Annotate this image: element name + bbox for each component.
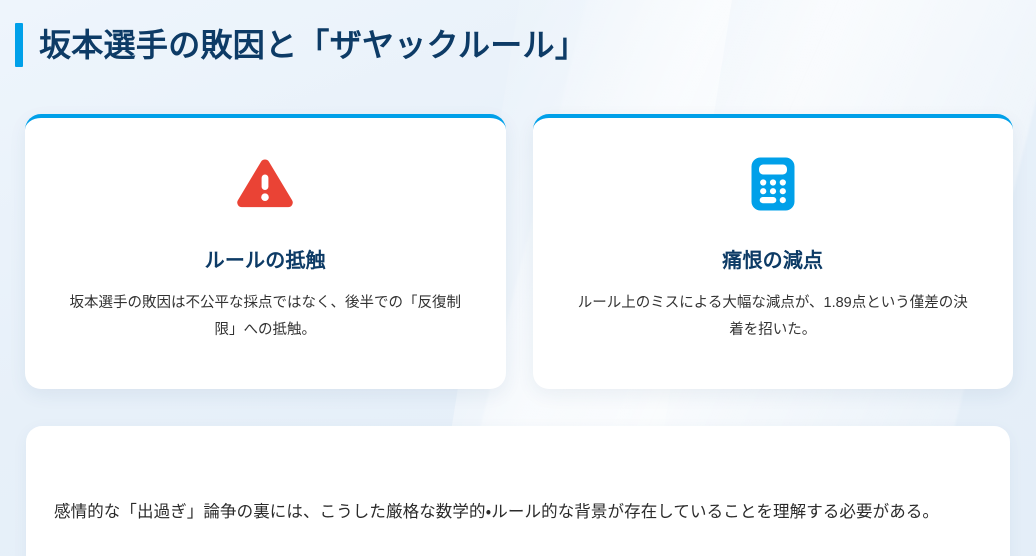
- page-title-text: 坂本選手の敗因と「ザヤックルール」: [39, 26, 587, 64]
- card-rule-violation[interactable]: ルールの抵触 坂本選手の敗因は不公平な採点ではなく、後半での「反復制限」への抵触…: [25, 114, 506, 389]
- warning-triangle-icon: [236, 154, 294, 214]
- card-title: 痛恨の減点: [722, 244, 823, 273]
- slide-root: 坂本選手の敗因と「ザヤックルール」 ルールの抵触 坂本選手の敗因は不公平な採点で…: [0, 0, 1036, 556]
- title-accent-bar: [15, 23, 23, 67]
- card-body-text: 坂本選手の敗因は不公平な採点ではなく、後半での「反復制限」への抵触。: [65, 290, 465, 344]
- card-body-text: ルール上のミスによる大幅な減点が、1.89点という僅差の決着を招いた。: [573, 290, 973, 344]
- page-title: 坂本選手の敗因と「ザヤックルール」: [15, 21, 587, 69]
- summary-panel: 感情的な「出過ぎ」論争の裏には、こうした厳格な数学的・ルール的な背景が存在してい…: [26, 426, 1010, 556]
- calculator-icon: [750, 154, 796, 214]
- card-row: ルールの抵触 坂本選手の敗因は不公平な採点ではなく、後半での「反復制限」への抵触…: [25, 114, 1013, 389]
- card-title: ルールの抵触: [205, 244, 326, 273]
- card-point-deduction[interactable]: 痛恨の減点 ルール上のミスによる大幅な減点が、1.89点という僅差の決着を招いた…: [533, 114, 1014, 389]
- summary-text: 感情的な「出過ぎ」論争の裏には、こうした厳格な数学的・ルール的な背景が存在してい…: [54, 496, 980, 528]
